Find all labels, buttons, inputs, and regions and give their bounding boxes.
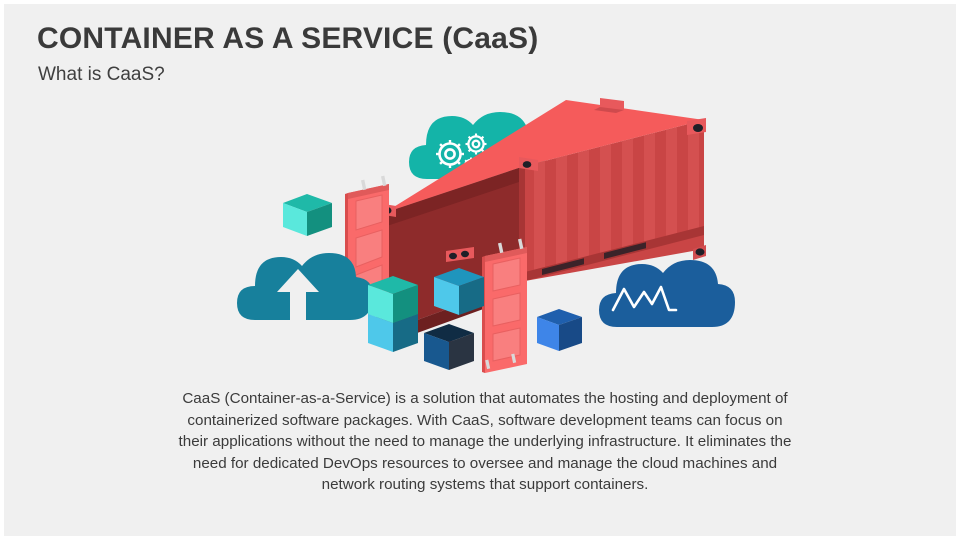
cube-cyan	[434, 268, 484, 315]
container-corner-post-front	[376, 164, 525, 332]
door-hinge	[361, 176, 386, 190]
cube-navy	[424, 324, 474, 370]
container-door-left	[345, 176, 389, 319]
container-door-right	[482, 239, 527, 373]
cube-blue	[537, 309, 582, 351]
page-title: CONTAINER AS A SERVICE (CaaS)	[37, 22, 538, 56]
upload-cloud-icon	[237, 253, 373, 320]
corner-casting	[378, 98, 706, 260]
chart-cloud-icon	[599, 260, 735, 327]
shipping-container	[345, 98, 706, 373]
page-subtitle: What is CaaS?	[38, 64, 165, 86]
door-jamb-casting	[444, 247, 474, 353]
cube-mint-standalone	[283, 194, 332, 236]
container-top	[384, 100, 704, 213]
door-hinge	[485, 239, 523, 369]
cube-stack	[368, 276, 418, 352]
gear-cloud-icon	[409, 112, 546, 179]
container-interior	[384, 166, 525, 345]
container-far-side	[525, 120, 704, 281]
body-paragraph: CaaS (Container-as-a-Service) is a solut…	[172, 388, 798, 496]
slide-canvas: CONTAINER AS A SERVICE (CaaS) What is Ca…	[0, 0, 960, 540]
